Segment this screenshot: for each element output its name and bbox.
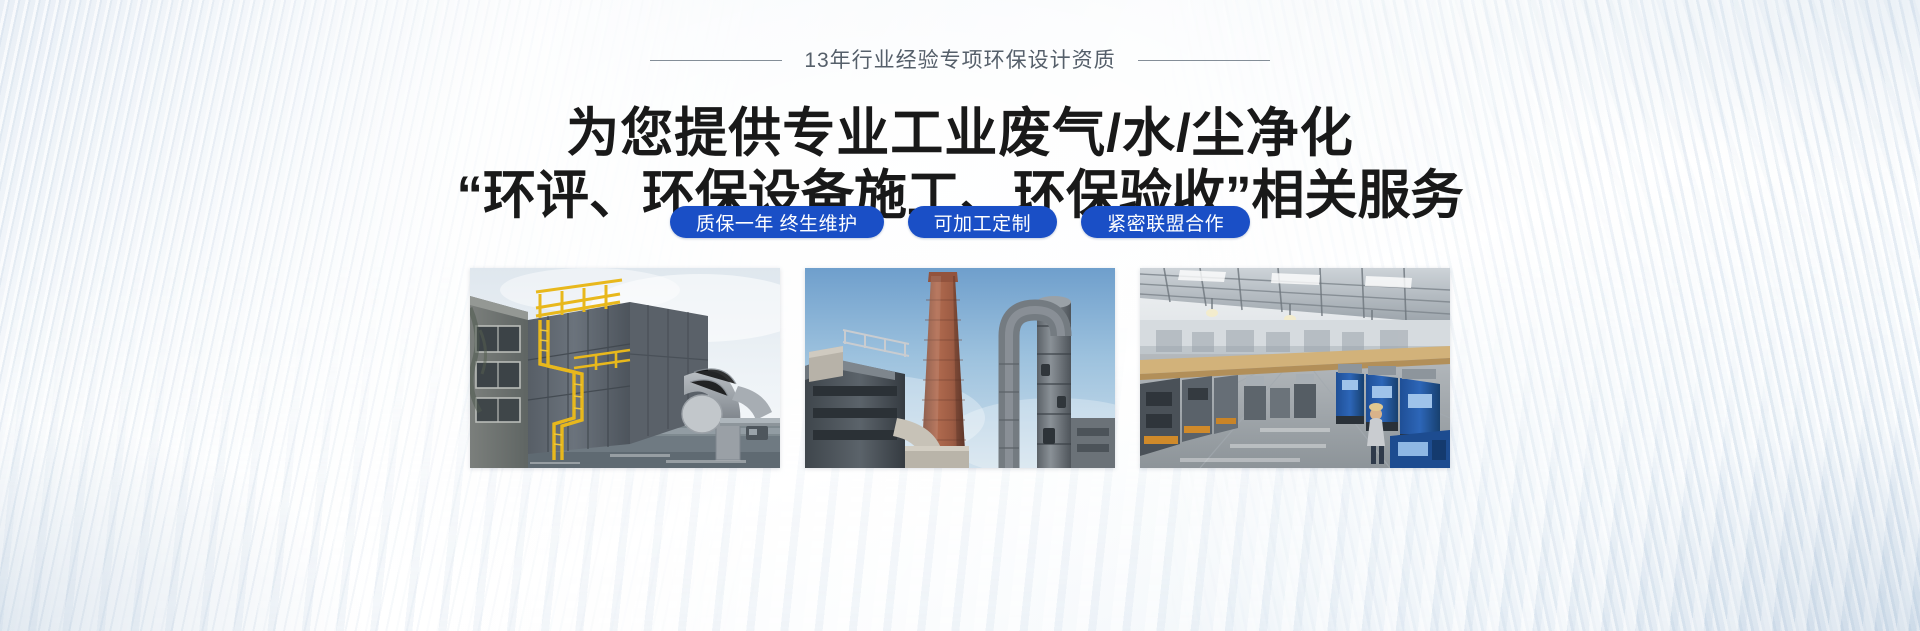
eyebrow-subtitle: 13年行业经验专项环保设计资质 [804, 50, 1115, 71]
photo-dust-collector-image [470, 268, 780, 468]
photo-chimney-scrubber[interactable] [805, 268, 1115, 468]
headline-line-1: 为您提供专业工业废气/水/尘净化 [0, 103, 1920, 165]
hero-banner: 13年行业经验专项环保设计资质 为您提供专业工业废气/水/尘净化 “环评、环保设… [0, 0, 1920, 631]
eyebrow-rule-right [1138, 60, 1270, 61]
badge-warranty[interactable]: 质保一年 终生维护 [670, 206, 884, 238]
badge-row: 质保一年 终生维护 可加工定制 紧密联盟合作 [0, 206, 1920, 238]
photo-strip [0, 268, 1920, 468]
photo-chimney-scrubber-image [805, 268, 1115, 468]
eyebrow-rule-left [650, 60, 782, 61]
photo-dust-collector[interactable] [470, 268, 780, 468]
badge-customization[interactable]: 可加工定制 [908, 206, 1058, 238]
photo-factory-interior-image [1140, 268, 1450, 468]
badge-alliance[interactable]: 紧密联盟合作 [1081, 206, 1250, 238]
photo-factory-interior[interactable] [1140, 268, 1450, 468]
banner-content: 13年行业经验专项环保设计资质 为您提供专业工业废气/水/尘净化 “环评、环保设… [0, 0, 1920, 631]
eyebrow-row: 13年行业经验专项环保设计资质 [0, 50, 1920, 71]
